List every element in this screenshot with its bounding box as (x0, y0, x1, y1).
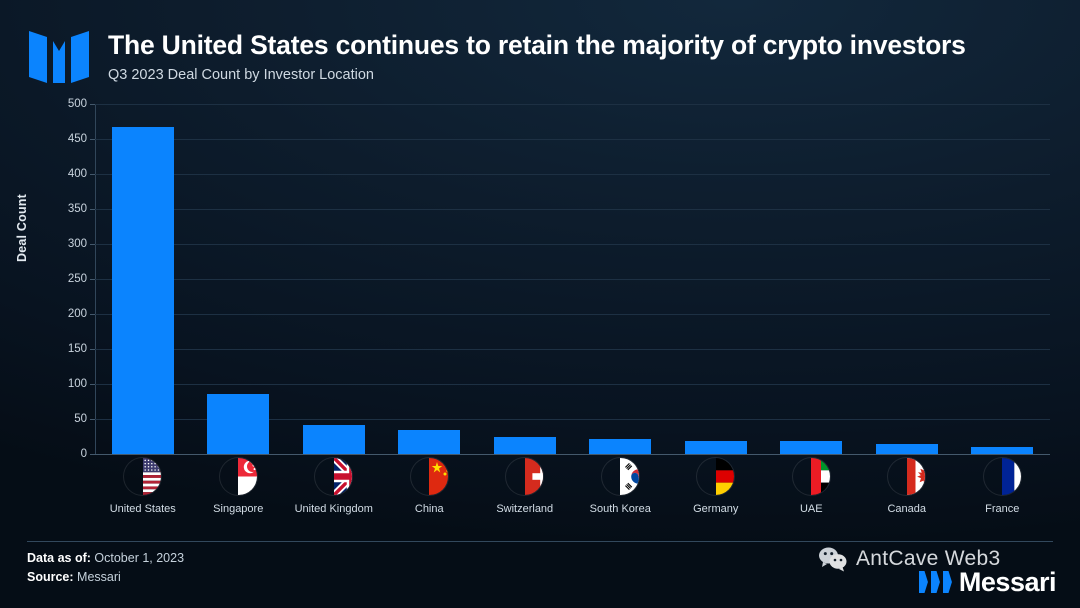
flag-ca-icon (888, 458, 925, 495)
bar[interactable] (207, 394, 269, 454)
gridline (95, 174, 1050, 175)
x-axis-category[interactable]: UAE (764, 458, 860, 515)
y-tick-label: 500 (41, 98, 87, 110)
x-axis-category[interactable]: United States (95, 458, 191, 515)
bar[interactable] (398, 430, 460, 454)
bar[interactable] (780, 441, 842, 454)
gridline (95, 104, 1050, 105)
bar[interactable] (112, 127, 174, 454)
y-tick-label: 400 (41, 168, 87, 180)
messari-logo-mark (27, 27, 91, 87)
data-as-of-label: Data as of: (27, 551, 91, 565)
page-title: The United States continues to retain th… (108, 30, 966, 61)
bar[interactable] (876, 444, 938, 455)
chart-page: The United States continues to retain th… (0, 0, 1080, 608)
x-tick-label: UAE (764, 503, 860, 515)
page-subtitle: Q3 2023 Deal Count by Investor Location (108, 67, 374, 83)
x-tick-label: United States (95, 503, 191, 515)
chevrons-icon (919, 571, 952, 593)
x-axis-category[interactable]: South Korea (573, 458, 669, 515)
footer: Data as of: October 1, 2023 Source: Mess… (27, 549, 184, 587)
source-label: Source: (27, 570, 74, 584)
gridline (95, 244, 1050, 245)
wechat-icon (818, 546, 848, 572)
x-tick-label: Singapore (191, 503, 287, 515)
gridline (95, 139, 1050, 140)
y-tick-mark (90, 244, 95, 245)
y-tick-label: 350 (41, 203, 87, 215)
x-axis-category[interactable]: United Kingdom (286, 458, 382, 515)
x-axis-category[interactable]: Germany (668, 458, 764, 515)
y-tick-mark (90, 349, 95, 350)
gridline (95, 349, 1050, 350)
gridline (95, 314, 1050, 315)
footer-source: Source: Messari (27, 568, 184, 587)
x-axis-category[interactable]: China (382, 458, 478, 515)
data-as-of-value: October 1, 2023 (94, 551, 184, 565)
x-tick-label: China (382, 503, 478, 515)
flag-sg-icon (220, 458, 257, 495)
x-tick-label: France (955, 503, 1051, 515)
bar[interactable] (971, 447, 1033, 454)
x-tick-label: Germany (668, 503, 764, 515)
y-tick-label: 0 (41, 448, 87, 460)
flag-kr-icon (602, 458, 639, 495)
x-axis-category[interactable]: Switzerland (477, 458, 573, 515)
flag-ch-icon (506, 458, 543, 495)
y-tick-label: 100 (41, 378, 87, 390)
x-tick-label: Switzerland (477, 503, 573, 515)
footer-divider (27, 541, 1053, 542)
y-tick-label: 150 (41, 343, 87, 355)
flag-cn-icon (411, 458, 448, 495)
y-tick-mark (90, 314, 95, 315)
plot-area: 050100150200250300350400450500 (95, 104, 1050, 454)
source-value: Messari (77, 570, 121, 584)
y-tick-label: 250 (41, 273, 87, 285)
bar[interactable] (494, 437, 556, 455)
x-tick-label: Canada (859, 503, 955, 515)
y-tick-label: 300 (41, 238, 87, 250)
flag-ae-icon (793, 458, 830, 495)
flag-gb-icon (315, 458, 352, 495)
messari-brand: Messari (919, 565, 1056, 599)
y-tick-mark (90, 174, 95, 175)
y-tick-mark (90, 139, 95, 140)
y-tick-mark (90, 384, 95, 385)
y-tick-mark (90, 104, 95, 105)
y-tick-label: 200 (41, 308, 87, 320)
bar[interactable] (685, 441, 747, 454)
bar[interactable] (589, 439, 651, 454)
y-tick-mark (90, 279, 95, 280)
y-axis-label: Deal Count (15, 194, 29, 262)
gridline (95, 384, 1050, 385)
bar[interactable] (303, 425, 365, 454)
x-axis-category[interactable]: France (955, 458, 1051, 515)
flag-us-icon (124, 458, 161, 495)
flag-de-icon (697, 458, 734, 495)
y-tick-mark (90, 209, 95, 210)
footer-data-as-of: Data as of: October 1, 2023 (27, 549, 184, 568)
flag-fr-icon (984, 458, 1021, 495)
x-axis-category[interactable]: Canada (859, 458, 955, 515)
x-tick-label: United Kingdom (286, 503, 382, 515)
x-axis-category[interactable]: Singapore (191, 458, 287, 515)
y-tick-mark (90, 419, 95, 420)
x-axis-line (95, 454, 1050, 455)
gridline (95, 279, 1050, 280)
x-tick-label: South Korea (573, 503, 669, 515)
gridline (95, 209, 1050, 210)
y-tick-mark (90, 454, 95, 455)
y-tick-label: 50 (41, 413, 87, 425)
y-tick-label: 450 (41, 133, 87, 145)
brand-wordmark: Messari (959, 567, 1056, 598)
chart-header: The United States continues to retain th… (0, 0, 1080, 96)
